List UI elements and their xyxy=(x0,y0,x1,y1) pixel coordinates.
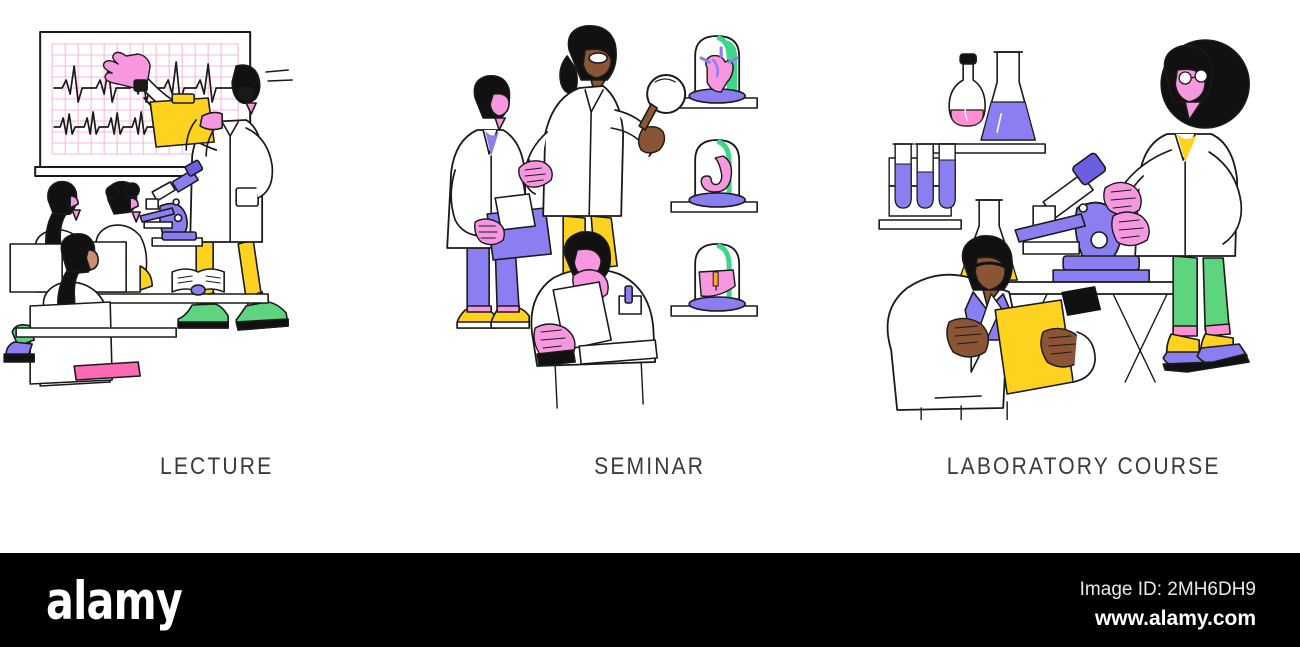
alamy-logo[interactable]: alamy xyxy=(46,575,182,628)
alamy-watermark-bar: alamy Image ID: 2MH6DH9 www.alamy.com xyxy=(0,553,1300,647)
stock-photo-page: LECTURE xyxy=(0,0,1300,647)
lecture-illustration xyxy=(0,10,433,420)
footer-meta: Image ID: 2MH6DH9 www.alamy.com xyxy=(1080,577,1256,633)
caption-lecture: LECTURE xyxy=(26,448,407,485)
magnifying-glass xyxy=(639,75,685,130)
illustration-strip: LECTURE xyxy=(0,0,1300,545)
test-tube-1 xyxy=(893,144,913,208)
image-id-label: Image ID: 2MH6DH9 xyxy=(1080,577,1256,603)
conical-flask-purple xyxy=(981,52,1035,140)
caption-seminar: SEMINAR xyxy=(459,448,840,485)
round-flask xyxy=(949,54,985,126)
laboratory-course-illustration xyxy=(867,10,1300,420)
test-tube-rack xyxy=(879,144,961,229)
panel-laboratory-course[interactable]: LABORATORY COURSE xyxy=(867,0,1300,545)
specimen-jar-liver xyxy=(671,244,757,316)
seated-figure xyxy=(532,232,658,408)
seminar-illustration xyxy=(433,10,866,420)
shelf-flasks xyxy=(933,52,1045,153)
test-tube-2 xyxy=(915,144,935,208)
specimen-jar-stomach xyxy=(671,140,757,212)
test-tube-3 xyxy=(937,144,957,208)
panel-seminar[interactable]: SEMINAR xyxy=(433,0,866,545)
open-book xyxy=(172,269,224,295)
alamy-url[interactable]: www.alamy.com xyxy=(1080,605,1256,633)
panel-lecture[interactable]: LECTURE xyxy=(0,0,433,545)
scientist-figure xyxy=(1103,40,1248,372)
caption-laboratory-course: LABORATORY COURSE xyxy=(893,448,1274,485)
standing-figure-clipboard xyxy=(447,76,551,328)
